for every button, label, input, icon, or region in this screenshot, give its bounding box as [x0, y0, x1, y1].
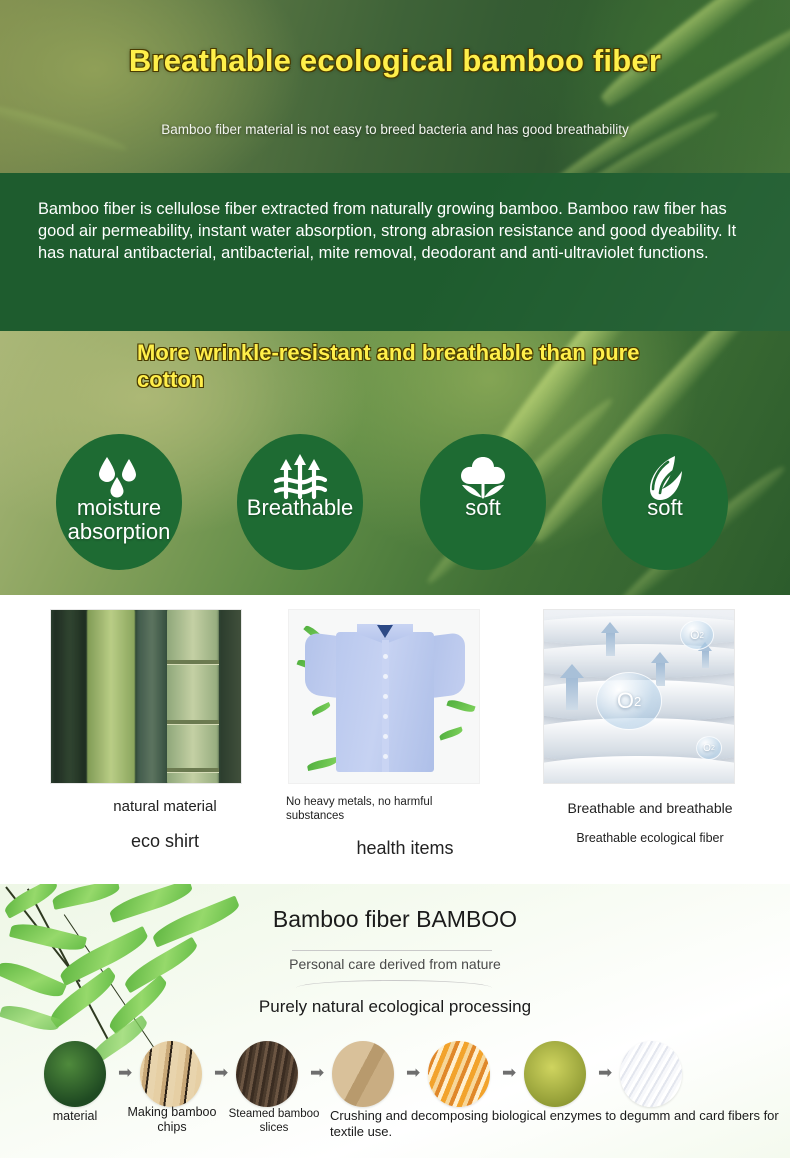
features-section: More wrinkle-resistant and breathable th… [0, 331, 790, 595]
product-cell-breathable-fiber: O2 O2 O2 Breathable and breathable Breat… [525, 609, 775, 845]
product-cell-health-items: No heavy metals, no harmful substances h… [280, 609, 530, 859]
arrow-icon: ➡ [214, 1067, 234, 1079]
hero-banner: Breathable ecological bamboo fiber Bambo… [0, 0, 790, 173]
description-text: Bamboo fiber is cellulose fiber extracte… [38, 199, 746, 265]
features-headline: More wrinkle-resistant and breathable th… [137, 340, 697, 394]
step-swatch-pulp [524, 1041, 586, 1107]
arrow-icon: ➡ [598, 1067, 618, 1079]
process-subtitle: Personal care derived from nature [0, 956, 790, 972]
step-swatch-material [44, 1041, 106, 1107]
process-section: Bamboo fiber BAMBOO Personal care derive… [0, 884, 790, 1158]
product-caption-top: Breathable and breathable [525, 800, 775, 816]
step-label: Steamed bamboo slices [222, 1107, 326, 1135]
hero-subtitle: Bamboo fiber material is not easy to bre… [0, 122, 790, 137]
divider-ornament [296, 980, 492, 988]
step-label: material [30, 1109, 120, 1124]
product-caption-top: natural material [40, 798, 290, 815]
process-title: Bamboo fiber BAMBOO [0, 906, 790, 933]
product-cell-natural-material: natural material eco shirt [40, 609, 290, 852]
blue-shirt-photo [288, 609, 480, 784]
arrow-icon: ➡ [118, 1067, 138, 1079]
step-swatch-crushed [332, 1041, 394, 1107]
bamboo-stalks-photo [50, 609, 242, 784]
feature-circle-breathable: Breathable [237, 434, 363, 570]
feature-label: soft [578, 496, 752, 520]
product-caption-bottom: health items [280, 838, 530, 859]
step-swatch-enzyme [428, 1041, 490, 1107]
step-label: Making bamboo chips [122, 1105, 222, 1136]
infographic-page: Breathable ecological bamboo fiber Bambo… [0, 0, 790, 1158]
product-caption-bottom: eco shirt [40, 831, 290, 852]
o2-bubble-small: O2 [680, 620, 714, 650]
o2-bubble-large: O2 [596, 672, 662, 730]
oxygen-fabric-photo: O2 O2 O2 [543, 609, 735, 784]
arrow-icon: ➡ [310, 1067, 330, 1079]
feature-label: moisture absorption [32, 496, 206, 544]
arrow-icon: ➡ [502, 1067, 522, 1079]
divider-line [292, 950, 492, 951]
description-block: Bamboo fiber is cellulose fiber extracte… [0, 173, 790, 331]
feature-circle-moisture: moisture absorption [56, 434, 182, 570]
feature-circle-soft-feather: soft [602, 434, 728, 570]
process-steps: ➡ ➡ ➡ ➡ ➡ ➡ [0, 1041, 790, 1111]
hero-title: Breathable ecological bamboo fiber [0, 43, 790, 79]
product-caption-top: No heavy metals, no harmful substances [286, 795, 486, 824]
step-swatch-steamed [236, 1041, 298, 1107]
step-swatch-chips [140, 1041, 202, 1107]
arrow-icon: ➡ [406, 1067, 426, 1079]
feature-circles: moisture absorption Breatha [0, 434, 790, 584]
feature-label: Breathable [213, 496, 387, 520]
feature-circle-soft-cotton: soft [420, 434, 546, 570]
process-long-label: Crushing and decomposing biological enzy… [330, 1108, 780, 1141]
product-caption-bottom: Breathable ecological fiber [525, 831, 775, 845]
product-grid: natural material eco shirt [0, 595, 790, 884]
step-swatch-carded [620, 1041, 682, 1107]
process-subtitle-2: Purely natural ecological processing [0, 997, 790, 1017]
o2-bubble-small: O2 [696, 736, 722, 760]
feature-label: soft [396, 496, 570, 520]
